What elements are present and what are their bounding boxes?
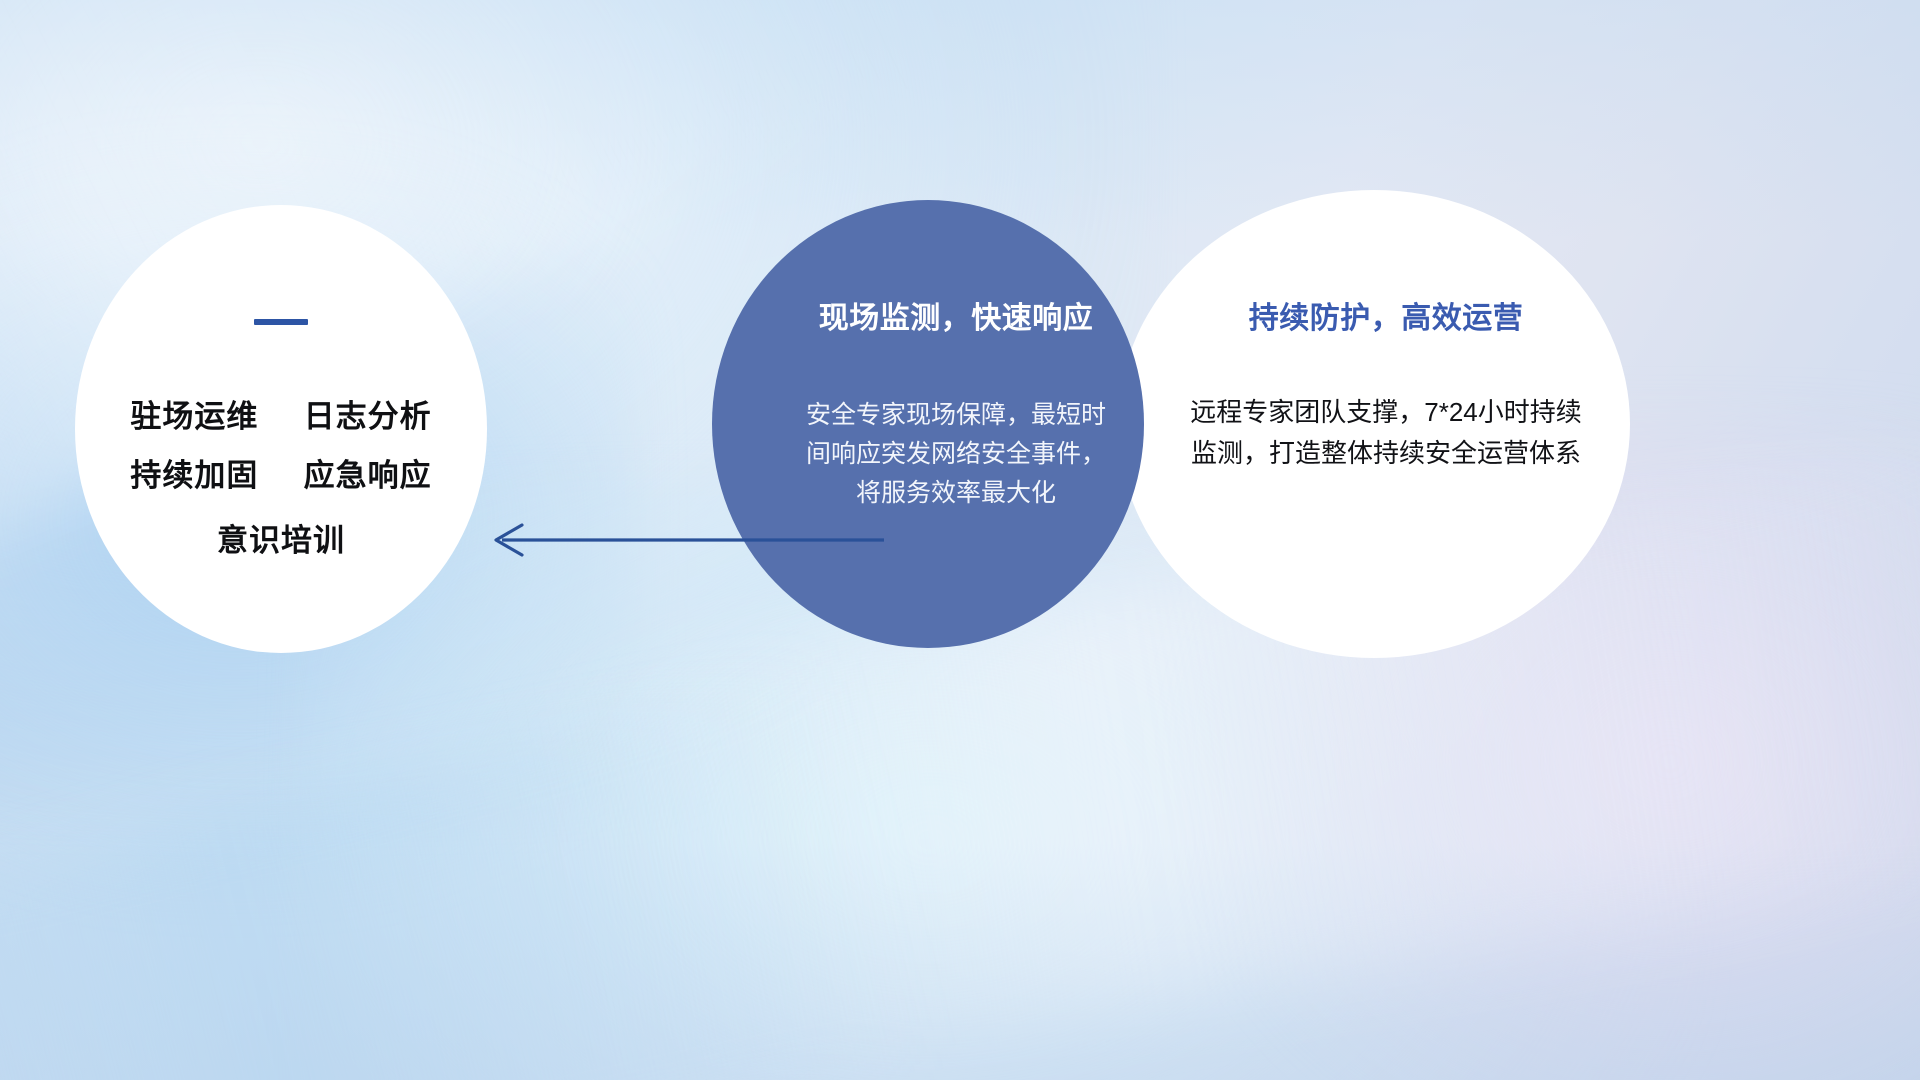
circle-capabilities[interactable]: [75, 205, 487, 653]
flow-arrow-leftward: [480, 510, 890, 570]
diagram-canvas: 驻场运维 日志分析 持续加固 应急响应 意识培训 现场监测，快速响应 安全专家现…: [0, 0, 1920, 1080]
circle-onsite-monitoring[interactable]: [712, 200, 1144, 648]
circle-continuous-operation[interactable]: [1118, 190, 1630, 658]
